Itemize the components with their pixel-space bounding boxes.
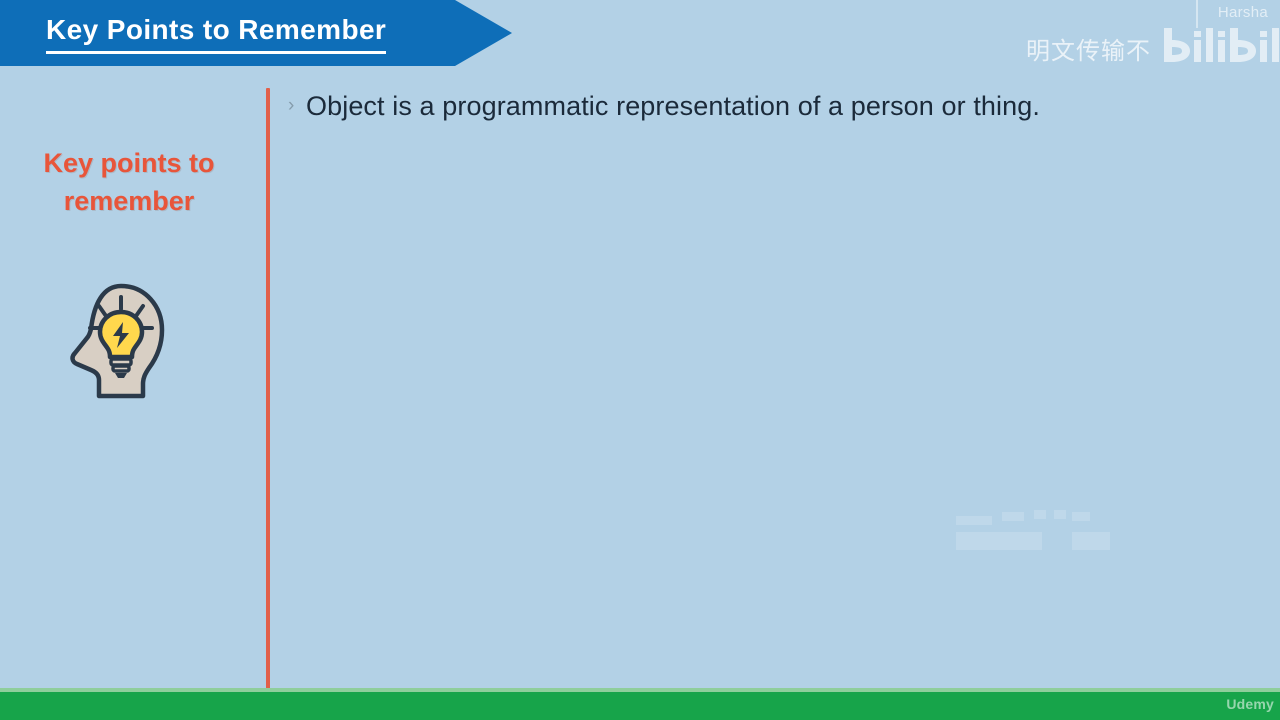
head-with-lightbulb-icon	[63, 280, 173, 400]
bullet-text: Object is a programmatic representation …	[306, 86, 1240, 126]
list-item: › Object is a programmatic representatio…	[288, 86, 1240, 126]
left-panel: Key points to remember	[0, 66, 258, 692]
vertical-divider	[266, 88, 270, 692]
slide-header-banner: Key Points to Remember	[0, 0, 512, 66]
key-points-caption: Key points to remember	[0, 144, 258, 221]
udemy-watermark: Udemy	[1226, 696, 1274, 712]
watermark-username: Harsha	[1218, 4, 1268, 21]
presentation-slide: Key Points to Remember Key points to rem…	[0, 0, 1280, 720]
watermark-faint-center	[952, 498, 1132, 556]
watermark-chinese-text: 明文传输不	[1026, 31, 1151, 66]
slide-body: › Object is a programmatic representatio…	[288, 86, 1240, 146]
bilibili-logo-icon	[1162, 24, 1280, 70]
video-progress-bar[interactable]	[0, 692, 1280, 720]
chevron-right-icon: ›	[288, 86, 306, 126]
page-title: Key Points to Remember	[46, 12, 386, 54]
